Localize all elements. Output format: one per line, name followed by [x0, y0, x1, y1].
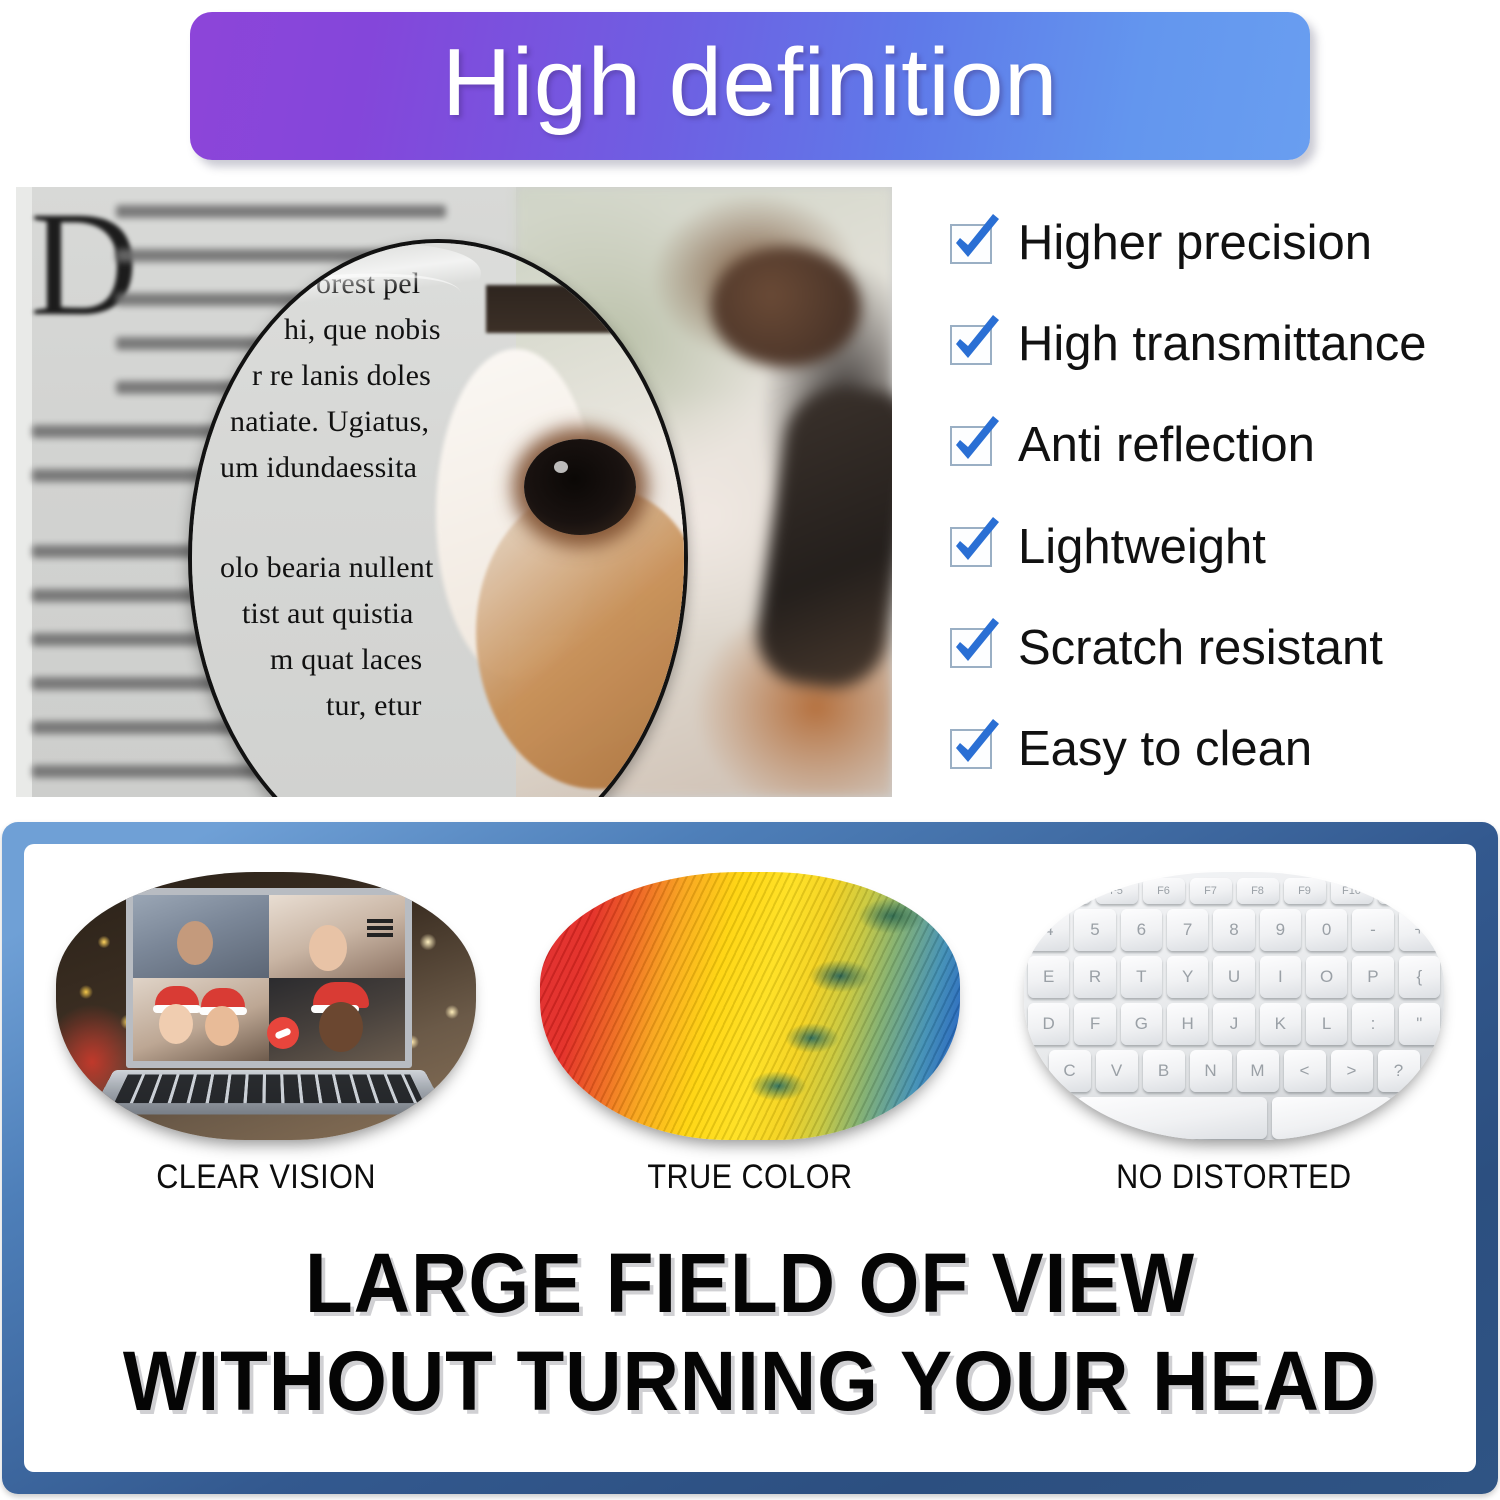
key[interactable]: V: [1096, 1050, 1138, 1092]
key[interactable]: J: [1213, 1003, 1254, 1045]
key[interactable]: 8: [1213, 909, 1254, 951]
key-command[interactable]: [1272, 1097, 1392, 1139]
sharp-text-line: olo bearia nullent: [220, 551, 434, 585]
key[interactable]: 5: [1074, 909, 1115, 951]
keyboard-row: E R T Y U I O P {: [1028, 956, 1440, 998]
feature-item[interactable]: Easy to clean: [950, 699, 1490, 800]
dog-eye: [524, 439, 636, 535]
keyboard-image: F4 F5 F6 F7 F8 F9 F10 F11 4: [1024, 872, 1444, 1140]
lens-demo-photo: D: [16, 187, 892, 797]
macaw-feather-texture: [540, 872, 960, 1140]
headline-block: LARGE FIELD OF VIEW WITHOUT TURNING YOUR…: [24, 1234, 1476, 1431]
key[interactable]: M: [1237, 1050, 1279, 1092]
feature-label: High transmittance: [1018, 320, 1427, 369]
key[interactable]: ?: [1378, 1050, 1420, 1092]
key[interactable]: +: [1399, 909, 1440, 951]
feature-label: Anti reflection: [1018, 421, 1315, 470]
key[interactable]: <: [1284, 1050, 1326, 1092]
lens-image-true-color: [540, 872, 960, 1140]
key[interactable]: 4: [1028, 909, 1069, 951]
key[interactable]: Y: [1167, 956, 1208, 998]
checkbox-checked-icon[interactable]: [950, 628, 992, 668]
key[interactable]: F8: [1237, 878, 1279, 904]
key[interactable]: {: [1399, 956, 1440, 998]
checkbox-checked-icon[interactable]: [950, 426, 992, 466]
key[interactable]: D: [1028, 1003, 1069, 1045]
key[interactable]: F4: [1049, 878, 1091, 904]
video-participant: [133, 895, 269, 978]
bottom-panel-inner: CLEAR VISION TRUE COLOR F4 F: [24, 844, 1476, 1472]
feature-checklist: Higher precision High transmittance Anti…: [950, 185, 1490, 800]
key[interactable]: F5: [1096, 878, 1138, 904]
sharp-dog-photo: [516, 239, 688, 797]
key[interactable]: P: [1352, 956, 1393, 998]
key[interactable]: 6: [1121, 909, 1162, 951]
laptop: [114, 888, 424, 1118]
feature-item[interactable]: Anti reflection: [950, 395, 1490, 496]
feature-label: Easy to clean: [1018, 725, 1312, 774]
lens-caption: NO DISTORTED: [1116, 1158, 1352, 1197]
top-section: D: [0, 185, 1500, 800]
page-title: High definition: [442, 35, 1058, 131]
keyboard-row: 4 5 6 7 8 9 0 - +: [1028, 909, 1440, 951]
checkbox-checked-icon[interactable]: [950, 729, 992, 769]
key[interactable]: I: [1260, 956, 1301, 998]
key[interactable]: H: [1167, 1003, 1208, 1045]
key[interactable]: -: [1352, 909, 1393, 951]
product-feature-page: High definition D: [0, 0, 1500, 1500]
key[interactable]: F11: [1378, 878, 1420, 904]
sharp-text-line: tur, etur: [326, 689, 422, 723]
feature-item[interactable]: Higher precision: [950, 193, 1490, 294]
key[interactable]: R: [1074, 956, 1115, 998]
key[interactable]: L: [1306, 1003, 1347, 1045]
feature-label: Lightweight: [1018, 523, 1266, 572]
feature-label: Higher precision: [1018, 219, 1372, 268]
bottom-panel: CLEAR VISION TRUE COLOR F4 F: [2, 822, 1498, 1494]
lens-showcase-item: F4 F5 F6 F7 F8 F9 F10 F11 4: [1019, 872, 1449, 1197]
key-spacebar[interactable]: [1077, 1097, 1267, 1139]
video-participant: [133, 978, 269, 1061]
key[interactable]: :: [1352, 1003, 1393, 1045]
key[interactable]: F9: [1284, 878, 1326, 904]
key[interactable]: O: [1306, 956, 1347, 998]
checkbox-checked-icon[interactable]: [950, 325, 992, 365]
keyboard-row: F4 F5 F6 F7 F8 F9 F10 F11: [1028, 878, 1440, 904]
laptop-keyboard-base: [90, 1070, 448, 1115]
key[interactable]: F6: [1143, 878, 1185, 904]
key[interactable]: T: [1121, 956, 1162, 998]
key[interactable]: F: [1074, 1003, 1115, 1045]
key[interactable]: F7: [1190, 878, 1232, 904]
keyboard-row: D F G H J K L : ": [1028, 1003, 1440, 1045]
lens-showcase-item: CLEAR VISION: [51, 872, 481, 1197]
keyboard-row: C V B N M < > ?: [1028, 1050, 1440, 1092]
end-call-button[interactable]: [267, 1017, 299, 1049]
menu-icon[interactable]: [367, 919, 393, 937]
header-banner: High definition: [190, 12, 1310, 160]
lens-showcase-row: CLEAR VISION TRUE COLOR F4 F: [24, 872, 1476, 1197]
feature-item[interactable]: High transmittance: [950, 294, 1490, 395]
key[interactable]: 0: [1306, 909, 1347, 951]
key[interactable]: ": [1399, 1003, 1440, 1045]
keyboard-row: [1028, 1097, 1440, 1139]
checkbox-checked-icon[interactable]: [950, 224, 992, 264]
feature-label: Scratch resistant: [1018, 624, 1383, 673]
key[interactable]: 9: [1260, 909, 1301, 951]
sharp-text-line: natiate. Ugiatus,: [230, 405, 429, 439]
key[interactable]: E: [1028, 956, 1069, 998]
sharp-text-line: r re lanis doles: [252, 359, 431, 393]
key[interactable]: F10: [1331, 878, 1373, 904]
key[interactable]: >: [1331, 1050, 1373, 1092]
key[interactable]: K: [1260, 1003, 1301, 1045]
laptop-screen: [126, 888, 412, 1068]
feature-item[interactable]: Scratch resistant: [950, 598, 1490, 699]
sharp-text-line: tist aut quistia: [242, 597, 414, 631]
headline-line-2: WITHOUT TURNING YOUR HEAD: [75, 1332, 1425, 1430]
key[interactable]: U: [1213, 956, 1254, 998]
key[interactable]: B: [1143, 1050, 1185, 1092]
lens-caption: TRUE COLOR: [647, 1158, 852, 1197]
checkbox-checked-icon[interactable]: [950, 527, 992, 567]
lens-image-clear-vision: [56, 872, 476, 1140]
lens-showcase-item: TRUE COLOR: [535, 872, 965, 1197]
lens-caption: CLEAR VISION: [156, 1158, 376, 1197]
magnifier-lens: orest pel hi, que nobis r re lanis doles…: [188, 239, 688, 797]
sharp-text-line: m quat laces: [270, 643, 422, 677]
key[interactable]: C: [1049, 1050, 1091, 1092]
key[interactable]: N: [1190, 1050, 1232, 1092]
key[interactable]: 7: [1167, 909, 1208, 951]
key[interactable]: G: [1121, 1003, 1162, 1045]
sharp-text-line: um idundaessita: [220, 451, 417, 485]
headline-line-1: LARGE FIELD OF VIEW: [75, 1234, 1425, 1332]
lens-image-no-distorted: F4 F5 F6 F7 F8 F9 F10 F11 4: [1024, 872, 1444, 1140]
feature-item[interactable]: Lightweight: [950, 497, 1490, 598]
